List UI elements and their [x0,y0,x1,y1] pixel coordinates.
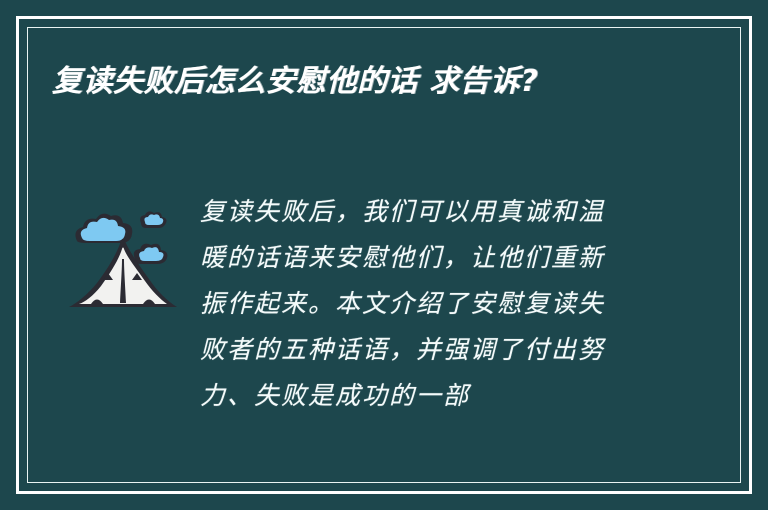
card-content: 复读失败后怎么安慰他的话 求告诉? [27,27,741,483]
cloud-large-left [75,214,132,243]
cloud-small-right [134,244,168,264]
mountain-icon [52,189,192,319]
cloud-small-top-right [140,211,166,228]
article-summary-text: 复读失败后，我们可以用真诚和温暖的话语来安慰他们，让他们重新振作起来。本文介绍了… [192,189,620,419]
article-card: 复读失败后怎么安慰他的话 求告诉? [0,0,768,510]
article-body-row: 复读失败后，我们可以用真诚和温暖的话语来安慰他们，让他们重新振作起来。本文介绍了… [52,189,733,419]
page-title: 复读失败后怎么安慰他的话 求告诉? [52,59,672,105]
